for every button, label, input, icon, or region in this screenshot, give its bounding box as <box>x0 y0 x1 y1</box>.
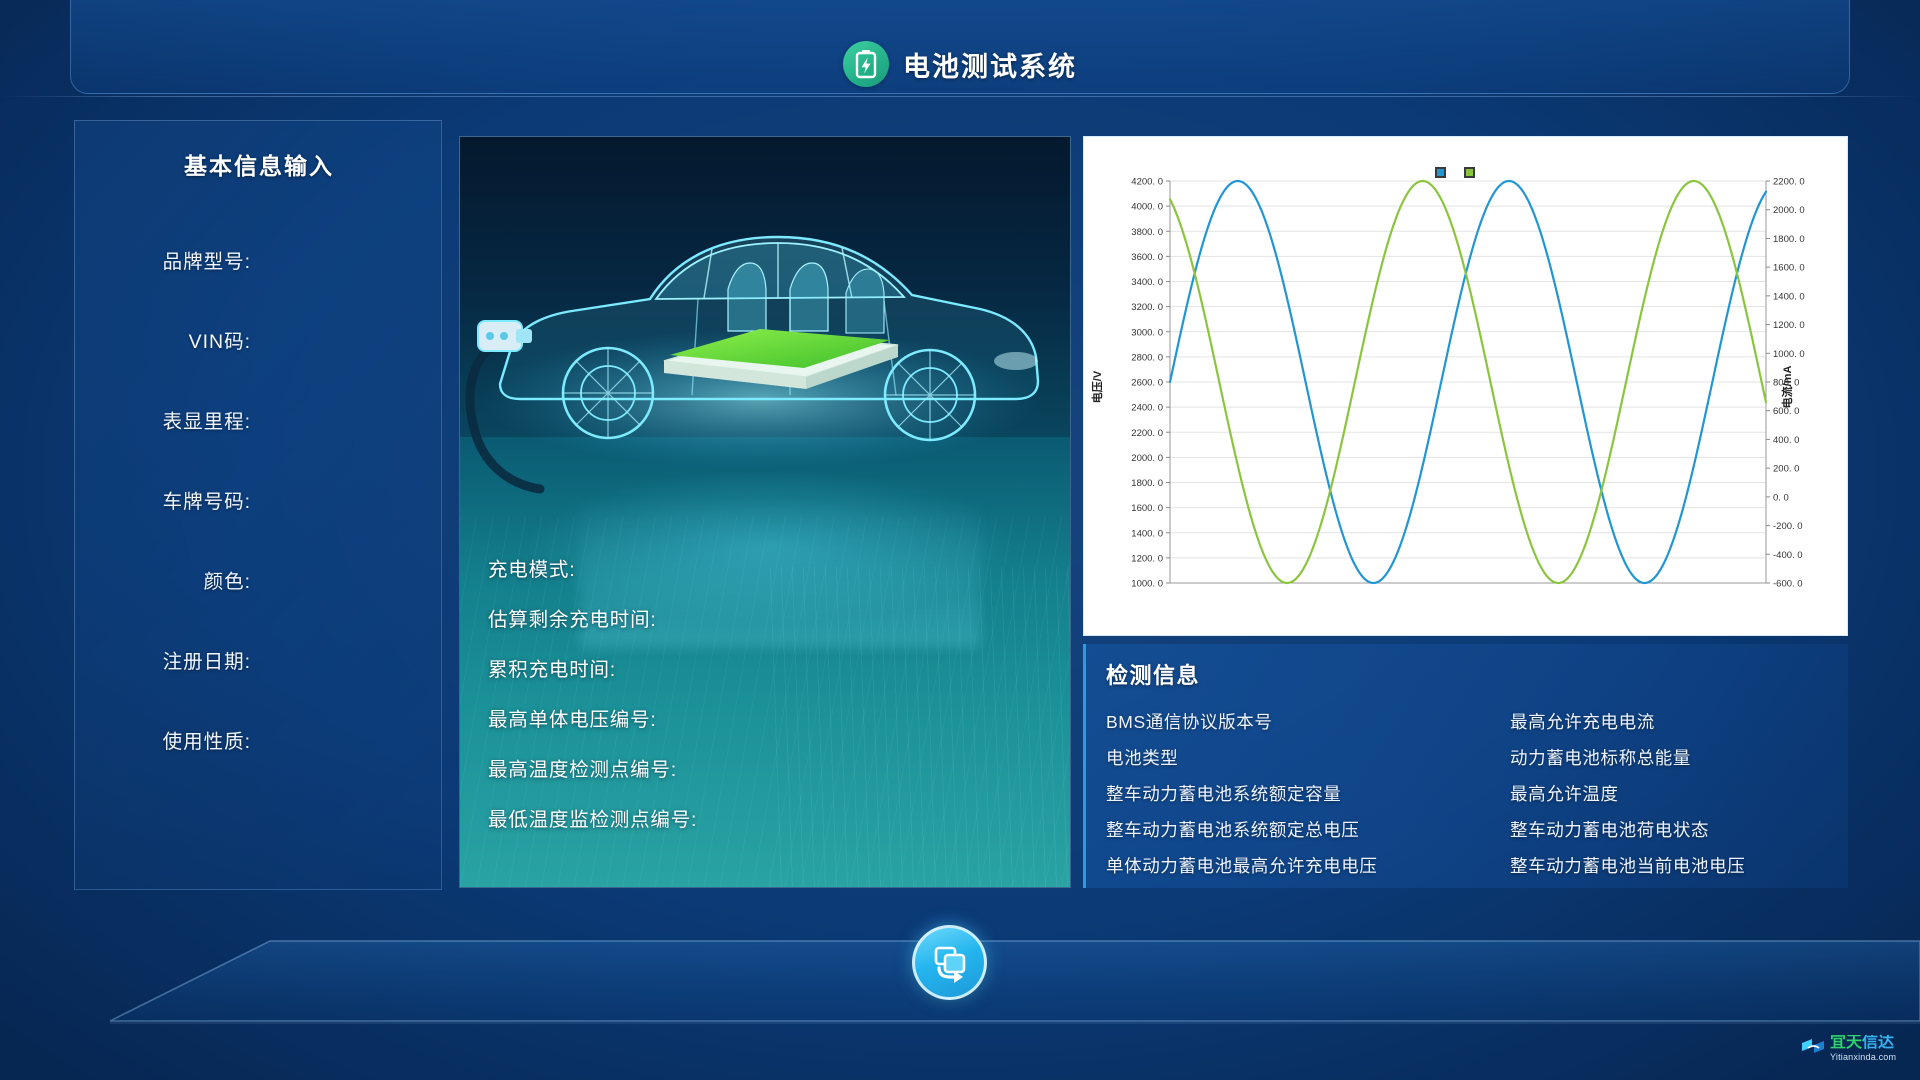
chart-y-axis-tick-labels: 1000. 01200. 01400. 01600. 01800. 02000.… <box>1131 177 1170 590</box>
field-label: 注册日期: <box>163 645 251 674</box>
detection-item[interactable]: 最高允许充电电流 <box>1510 704 1745 740</box>
field-label: 品牌型号: <box>163 245 251 274</box>
chart-y-tick-label: 3000. 0 <box>1131 327 1163 338</box>
chart-y-tick-label: 2200. 0 <box>1131 428 1163 439</box>
form-field-brand-model[interactable]: 品牌型号: <box>75 219 443 299</box>
legend-swatch-voltage[interactable] <box>1435 167 1446 178</box>
chart-y-tick-label: 2800. 0 <box>1131 352 1163 363</box>
chart-y-tick-label: 3400. 0 <box>1131 277 1163 288</box>
field-label: 车牌号码: <box>163 485 251 514</box>
field-label: 估算剩余充电时间: <box>488 603 657 632</box>
chart-y-tick-label: 3800. 0 <box>1131 227 1163 238</box>
wireframe-car-icon <box>460 149 1071 509</box>
page-title: 电池测试系统 <box>903 45 1077 84</box>
field-label: 最高温度检测点编号: <box>488 753 677 782</box>
basic-info-field-list: 品牌型号: VIN码: 表显里程: 车牌号码: 颜色: 注册日期: 使用性质: <box>75 219 443 779</box>
chart-y2-tick-label: 0. 0 <box>1773 492 1789 503</box>
charging-field-list: 充电模式: 估算剩余充电时间: 累积充电时间: 最高单体电压编号: 最高温度检测… <box>460 542 1071 842</box>
header-bar: 电池测试系统 <box>0 34 1920 94</box>
chart-legend <box>1435 164 1475 180</box>
chart-y2-tick-label: 1200. 0 <box>1773 320 1805 331</box>
chart-y2-tick-label: -200. 0 <box>1773 521 1803 532</box>
chart-y-tick-label: 4000. 0 <box>1131 202 1163 213</box>
watermark-text: 宜天信达 Yitianxinda.com <box>1830 1035 1896 1062</box>
detection-item[interactable]: 单体动力蓄电池最高允许充电电压 <box>1106 848 1378 884</box>
field-label: 表显里程: <box>163 405 251 434</box>
detection-info-title: 检测信息 <box>1106 658 1200 690</box>
yitianxinda-logo-icon <box>1800 1035 1826 1061</box>
charging-field-min-temp-probe-id[interactable]: 最低温度监检测点编号: <box>460 792 1071 842</box>
charging-field-estimated-remaining-time[interactable]: 估算剩余充电时间: <box>460 592 1071 642</box>
chart-y2-tick-label: 2000. 0 <box>1773 205 1805 216</box>
field-label: 充电模式: <box>488 553 575 582</box>
sidebar-title: 基本信息输入 <box>75 147 443 181</box>
voltage-current-line-chart: 1000. 01200. 01400. 01600. 01800. 02000.… <box>1084 137 1849 637</box>
battery-bolt-icon <box>843 41 889 87</box>
watermark: 宜天信达 Yitianxinda.com <box>1800 1028 1910 1068</box>
detection-info-column-right: 最高允许充电电流 动力蓄电池标称总能量 最高允许温度 整车动力蓄电池荷电状态 整… <box>1510 704 1745 884</box>
chart-y-tick-label: 2000. 0 <box>1131 453 1163 464</box>
charging-field-mode[interactable]: 充电模式: <box>460 542 1071 592</box>
switch-window-refresh-icon[interactable] <box>912 925 987 1000</box>
detection-item[interactable]: 整车动力蓄电池当前电池电压 <box>1510 848 1745 884</box>
form-field-usage-type[interactable]: 使用性质: <box>75 699 443 779</box>
field-label: 累积充电时间: <box>488 653 616 682</box>
chart-y2-tick-label: -600. 0 <box>1773 579 1803 590</box>
chart-area: 1000. 01200. 01400. 01600. 01800. 02000.… <box>1084 137 1847 635</box>
form-field-odometer[interactable]: 表显里程: <box>75 379 443 459</box>
chart-gridlines <box>1170 181 1766 583</box>
chart-y-tick-label: 1400. 0 <box>1131 528 1163 539</box>
field-label: 最高单体电压编号: <box>488 703 657 732</box>
detection-item[interactable]: 电池类型 <box>1106 740 1378 776</box>
detection-item[interactable]: 最高允许温度 <box>1510 776 1745 812</box>
chart-y2-tick-label: 1400. 0 <box>1773 291 1805 302</box>
field-label: VIN码: <box>189 325 251 354</box>
chart-y-tick-label: 3600. 0 <box>1131 252 1163 263</box>
form-field-vin[interactable]: VIN码: <box>75 299 443 379</box>
chart-y-tick-label: 1800. 0 <box>1131 478 1163 489</box>
detection-item[interactable]: 整车动力蓄电池系统额定容量 <box>1106 776 1378 812</box>
chart-y2-tick-label: 1800. 0 <box>1773 234 1805 245</box>
chart-y2-tick-label: -400. 0 <box>1773 550 1803 561</box>
vehicle-charging-panel: 充电模式: 估算剩余充电时间: 累积充电时间: 最高单体电压编号: 最高温度检测… <box>459 136 1071 888</box>
chart-y-tick-label: 2600. 0 <box>1131 378 1163 389</box>
detection-item[interactable]: BMS通信协议版本号 <box>1106 704 1378 740</box>
form-field-color[interactable]: 颜色: <box>75 539 443 619</box>
basic-info-panel: 基本信息输入 品牌型号: VIN码: 表显里程: 车牌号码: 颜色: 注册日期:… <box>74 120 442 890</box>
chart-y-tick-label: 2400. 0 <box>1131 403 1163 414</box>
field-label: 颜色: <box>204 565 251 594</box>
chart-y2-tick-label: 400. 0 <box>1773 435 1799 446</box>
detection-info-panel: 检测信息 BMS通信协议版本号 电池类型 整车动力蓄电池系统额定容量 整车动力蓄… <box>1083 644 1848 888</box>
chart-y2-tick-label: 200. 0 <box>1773 464 1799 475</box>
chart-y2-tick-label: 1600. 0 <box>1773 263 1805 274</box>
chart-y-axis-title: 电压/V <box>1090 370 1104 403</box>
chart-y-tick-label: 1200. 0 <box>1131 553 1163 564</box>
waveform-chart-panel: 1000. 01200. 01400. 01600. 01800. 02000.… <box>1083 136 1848 636</box>
field-label: 最低温度监检测点编号: <box>488 803 697 832</box>
chart-y-tick-label: 1000. 0 <box>1131 579 1163 590</box>
charging-field-max-cell-voltage-id[interactable]: 最高单体电压编号: <box>460 692 1071 742</box>
detection-info-column-left: BMS通信协议版本号 电池类型 整车动力蓄电池系统额定容量 整车动力蓄电池系统额… <box>1106 704 1378 884</box>
chart-y2-tick-label: 2200. 0 <box>1773 177 1805 188</box>
chart-y-tick-label: 1600. 0 <box>1131 503 1163 514</box>
chart-y2-axis-title: 电流/mA <box>1780 366 1794 409</box>
watermark-brand-cn: 宜天信达 <box>1830 1035 1896 1051</box>
chart-y2-tick-label: 1000. 0 <box>1773 349 1805 360</box>
form-field-registration-date[interactable]: 注册日期: <box>75 619 443 699</box>
legend-swatch-current[interactable] <box>1464 167 1475 178</box>
charging-field-max-temp-probe-id[interactable]: 最高温度检测点编号: <box>460 742 1071 792</box>
detection-item[interactable]: 动力蓄电池标称总能量 <box>1510 740 1745 776</box>
field-label: 使用性质: <box>163 725 251 754</box>
chart-y-tick-label: 3200. 0 <box>1131 302 1163 313</box>
detection-item[interactable]: 整车动力蓄电池荷电状态 <box>1510 812 1745 848</box>
charging-field-cumulative-time[interactable]: 累积充电时间: <box>460 642 1071 692</box>
chart-y-tick-label: 4200. 0 <box>1131 177 1163 188</box>
watermark-brand-en: Yitianxinda.com <box>1830 1053 1896 1062</box>
detection-item[interactable]: 整车动力蓄电池系统额定总电压 <box>1106 812 1378 848</box>
header-divider <box>0 96 1920 97</box>
form-field-plate-number[interactable]: 车牌号码: <box>75 459 443 539</box>
